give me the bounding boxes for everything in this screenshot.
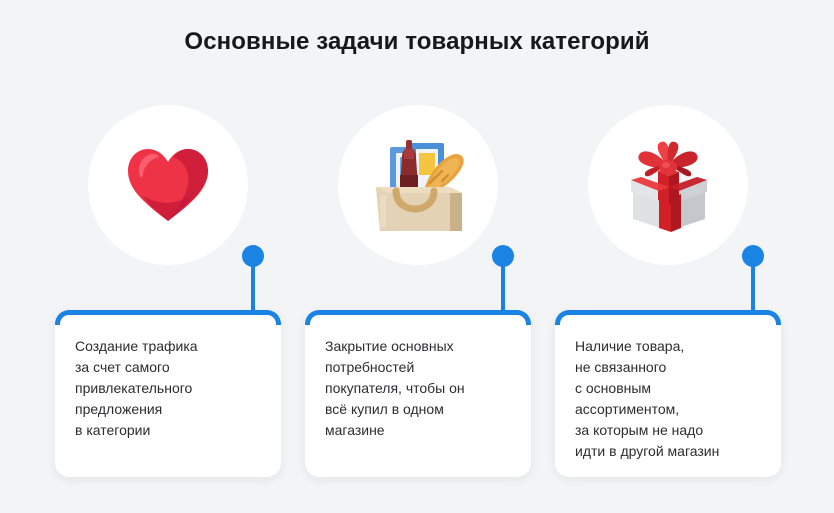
card-line: покупателя, чтобы он [325, 378, 513, 399]
card-line: с основным [575, 378, 763, 399]
card-text-3: Наличие товара, не связанного с основным… [555, 336, 781, 462]
card-line: магазине [325, 420, 513, 441]
info-card-1[interactable]: Создание трафика за счет самого привлека… [55, 310, 281, 477]
connector-1 [242, 245, 264, 320]
card-line: Создание трафика [75, 336, 263, 357]
card-line: предложения [75, 399, 263, 420]
column-1: Создание трафика за счет самого привлека… [43, 105, 293, 485]
connector-2 [492, 245, 514, 320]
connector-dot-3 [742, 245, 764, 267]
card-line: потребностей [325, 357, 513, 378]
info-card-2[interactable]: Закрытие основных потребностей покупател… [305, 310, 531, 477]
card-line: идти в другой магазин [575, 441, 763, 462]
page-title: Основные задачи товарных категорий [0, 28, 834, 56]
red-heart-emoji-icon [126, 147, 210, 223]
icon-circle-1 [88, 105, 248, 265]
card-text-1: Создание трафика за счет самого привлека… [55, 336, 281, 441]
columns-container: Создание трафика за счет самого привлека… [0, 105, 834, 485]
card-accent-bar-1 [55, 310, 281, 325]
card-line: привлекательного [75, 378, 263, 399]
info-card-3[interactable]: Наличие товара, не связанного с основным… [555, 310, 781, 477]
card-line: в категории [75, 420, 263, 441]
card-accent-bar-3 [555, 310, 781, 325]
icon-circle-3 [588, 105, 748, 265]
column-2: Закрытие основных потребностей покупател… [293, 105, 543, 485]
card-text-2: Закрытие основных потребностей покупател… [305, 336, 531, 441]
card-line: ассортиментом, [575, 399, 763, 420]
card-line: Закрытие основных [325, 336, 513, 357]
wrapped-gift-emoji-icon [617, 135, 719, 235]
card-accent-bar-2 [305, 310, 531, 325]
card-line: за счет самого [75, 357, 263, 378]
shopping-bag-with-groceries-emoji-icon [366, 135, 470, 235]
column-3: Наличие товара, не связанного с основным… [543, 105, 793, 485]
card-line: Наличие товара, [575, 336, 763, 357]
connector-3 [742, 245, 764, 320]
icon-circle-2 [338, 105, 498, 265]
connector-dot-2 [492, 245, 514, 267]
card-line: не связанного [575, 357, 763, 378]
card-line: за которым не надо [575, 420, 763, 441]
connector-dot-1 [242, 245, 264, 267]
card-line: всё купил в одном [325, 399, 513, 420]
